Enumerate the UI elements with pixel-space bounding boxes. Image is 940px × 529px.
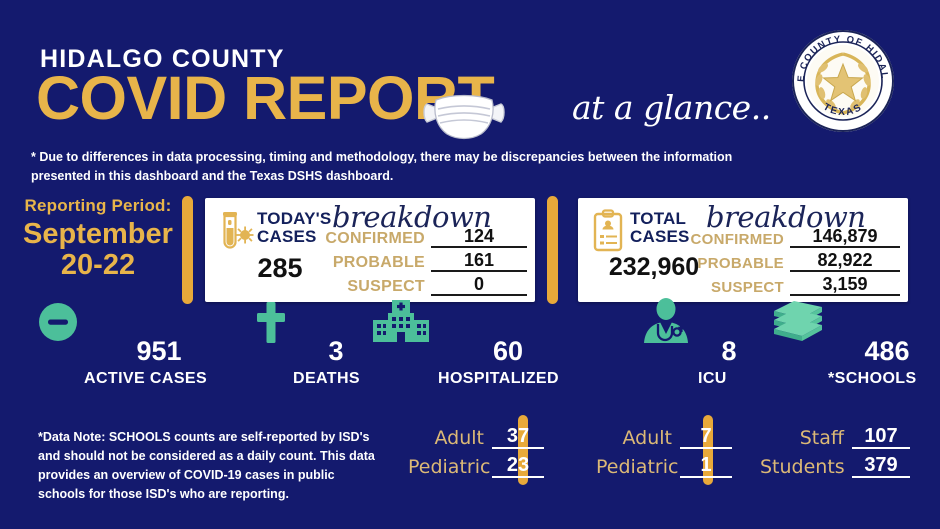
subgroup-row: Pediatric 23 (408, 449, 544, 478)
doctor-icon (640, 296, 692, 344)
subgroup-value: 37 (492, 425, 544, 449)
icu-breakdown: Adult 7 Pediatric 1 (596, 420, 732, 478)
subgroup-label: Adult (408, 427, 492, 449)
stat-label: ACTIVE CASES (84, 370, 207, 388)
subgroup-label: Adult (596, 427, 680, 449)
breakdown-value: 124 (431, 227, 527, 248)
data-note: *Data Note: SCHOOLS counts are self-repo… (38, 428, 383, 504)
breakdown-value: 161 (431, 251, 527, 272)
covid-report-infographic: HIDALGO COUNTY COVID REPORT at a glance.… (0, 0, 940, 529)
schools-breakdown: Staff 107 Students 379 (760, 420, 910, 478)
breakdown-value: 0 (431, 275, 527, 296)
stat-value: 60 (438, 338, 578, 365)
todays-cases-breakdown: CONFIRMED 124 PROBABLE 161 SUSPECT 0 (292, 224, 527, 296)
breakdown-label: SUSPECT (347, 278, 431, 296)
subgroup-row: Adult 37 (408, 420, 544, 449)
reporting-period-days: 20-22 (8, 250, 188, 280)
hospitalized-breakdown: Adult 37 Pediatric 23 (408, 420, 544, 478)
todays-cases-card: TODAY'S CASES 285 breakdown CONFIRMED 12… (205, 198, 535, 302)
divider-bar (182, 196, 193, 304)
minus-circle-icon (38, 302, 78, 342)
books-icon (770, 298, 826, 342)
subgroup-value: 23 (492, 454, 544, 478)
reporting-period-title: Reporting Period: (8, 196, 188, 216)
subgroup-label: Staff (760, 427, 852, 449)
breakdown-value: 146,879 (790, 227, 900, 248)
subgroup-row: Students 379 (760, 449, 910, 478)
cross-icon (255, 300, 287, 344)
stat-label: ICU (698, 370, 727, 388)
stat-value: 951 (84, 338, 234, 365)
breakdown-value: 3,159 (790, 275, 900, 296)
breakdown-label: CONFIRMED (325, 230, 431, 248)
stat-value: 8 (698, 338, 760, 365)
subgroup-value: 379 (852, 454, 910, 478)
divider-bar (547, 196, 558, 304)
stat-label: *SCHOOLS (828, 370, 917, 388)
reporting-period-month: September (8, 218, 188, 250)
hidalgo-county-seal: THE COUNTY OF HIDALGO TEXAS (790, 28, 896, 134)
test-tube-virus-icon (216, 208, 256, 254)
breakdown-value: 82,922 (790, 251, 900, 272)
breakdown-row: SUSPECT 3,159 (665, 272, 900, 296)
clipboard-icon (589, 208, 629, 254)
subgroup-value: 1 (680, 454, 732, 478)
subgroup-row: Staff 107 (760, 420, 910, 449)
subgroup-value: 7 (680, 425, 732, 449)
stat-label: HOSPITALIZED (438, 370, 559, 388)
subgroup-row: Adult 7 (596, 420, 732, 449)
tagline: at a glance.. (572, 88, 771, 127)
disclaimer-text: * Due to differences in data processing,… (31, 148, 771, 187)
header: HIDALGO COUNTY COVID REPORT at a glance.… (0, 0, 940, 145)
breakdown-row: CONFIRMED 124 (292, 224, 527, 248)
hospital-icon (370, 296, 432, 344)
stat-value: 486 (828, 338, 940, 365)
subgroup-label: Pediatric (596, 456, 680, 478)
subgroup-value: 107 (852, 425, 910, 449)
total-cases-card: TOTAL CASES 232,960 breakdown CONFIRMED … (578, 198, 908, 302)
breakdown-row: CONFIRMED 146,879 (665, 224, 900, 248)
page-title: COVID REPORT (36, 68, 494, 129)
total-cases-breakdown: CONFIRMED 146,879 PROBABLE 82,922 SUSPEC… (665, 224, 900, 296)
reporting-period: Reporting Period: September 20-22 (8, 196, 188, 281)
stat-value: 3 (293, 338, 379, 365)
breakdown-label: PROBABLE (697, 255, 790, 272)
breakdown-row: PROBABLE 82,922 (665, 248, 900, 272)
breakdown-label: CONFIRMED (690, 231, 790, 248)
breakdown-label: SUSPECT (711, 279, 790, 296)
stat-label: DEATHS (293, 370, 360, 388)
breakdown-row: SUSPECT 0 (292, 272, 527, 296)
breakdown-row: PROBABLE 161 (292, 248, 527, 272)
breakdown-label: PROBABLE (333, 254, 431, 272)
subgroup-label: Pediatric (408, 456, 492, 478)
subgroup-label: Students (760, 456, 852, 478)
subgroup-row: Pediatric 1 (596, 449, 732, 478)
